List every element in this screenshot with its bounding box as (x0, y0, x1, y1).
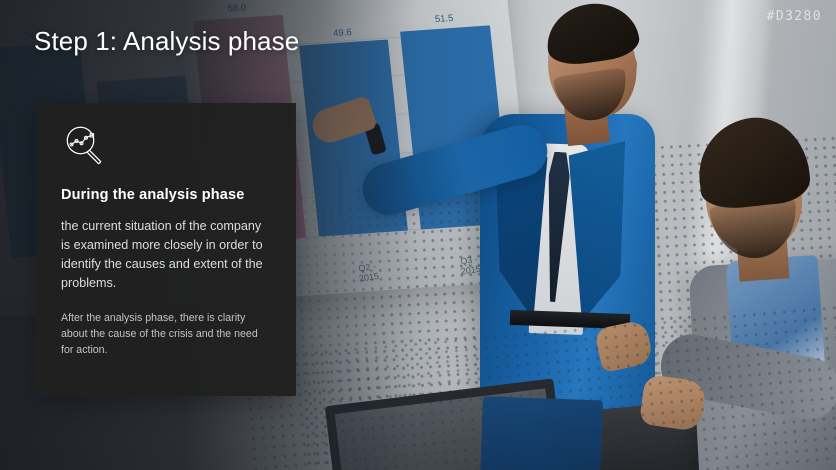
info-card-body-text: the current situation of the company is … (61, 217, 272, 294)
watermark-label: #D3280 (767, 9, 822, 24)
slide-canvas: 01020304050 54.5Q3 -2014Q4 -201458.0Q1 -… (0, 0, 836, 470)
magnifier-chart-icon (63, 125, 107, 167)
info-card-note-text: After the analysis phase, there is clari… (61, 310, 272, 358)
page-title: Step 1: Analysis phase (34, 26, 299, 57)
info-card-content: During the analysis phase the current si… (36, 103, 296, 358)
analysis-info-card: During the analysis phase the current si… (36, 103, 296, 396)
info-card-heading: During the analysis phase (61, 187, 272, 203)
